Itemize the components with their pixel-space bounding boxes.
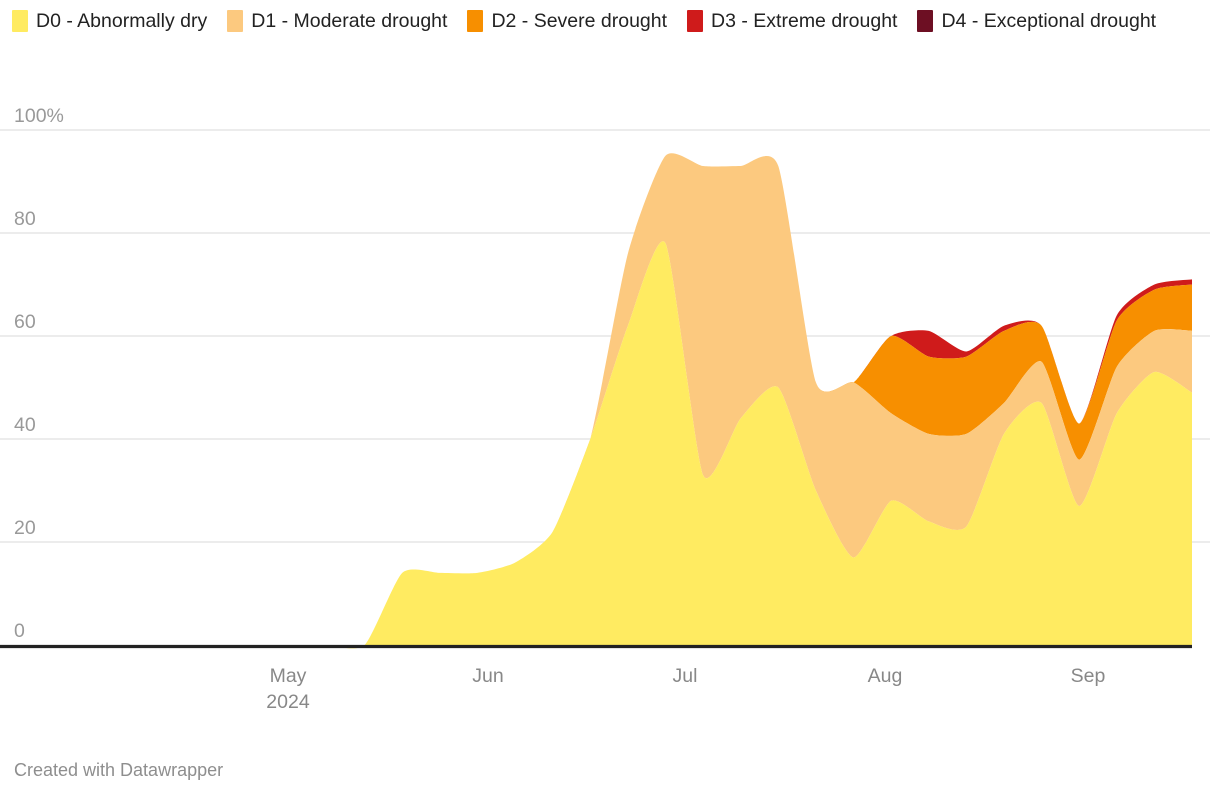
x-tick-month-jun: Jun — [472, 663, 503, 689]
legend-swatch-d2 — [467, 10, 483, 32]
y-tick-label-0: 0 — [14, 621, 25, 641]
y-tick-label-100: 100% — [14, 106, 64, 126]
x-tick-year-label: 2024 — [266, 689, 309, 715]
chart-legend: D0 - Abnormally dry D1 - Moderate drough… — [12, 8, 1208, 34]
y-tick-label-20: 20 — [14, 518, 36, 538]
legend-swatch-d1 — [227, 10, 243, 32]
x-tick-month-may: May — [266, 663, 309, 689]
legend-item-d2[interactable]: D2 - Severe drought — [467, 8, 667, 34]
x-tick-label-may: May2024 — [266, 663, 309, 715]
datawrapper-credit[interactable]: Created with Datawrapper — [14, 760, 223, 781]
x-tick-month-jul: Jul — [673, 663, 698, 689]
stacked-area-chart: 100%806040200 May2024JunJulAugSep — [0, 96, 1220, 656]
legend-label-d4: D4 - Exceptional drought — [941, 8, 1156, 34]
x-tick-month-aug: Aug — [868, 663, 903, 689]
legend-item-d3[interactable]: D3 - Extreme drought — [687, 8, 897, 34]
area-series-group — [327, 153, 1192, 648]
y-tick-label-80: 80 — [14, 209, 36, 229]
x-tick-label-jul: Jul — [673, 663, 698, 689]
legend-label-d0: D0 - Abnormally dry — [36, 8, 207, 34]
legend-item-d0[interactable]: D0 - Abnormally dry — [12, 8, 207, 34]
legend-label-d1: D1 - Moderate drought — [251, 8, 447, 34]
x-tick-label-jun: Jun — [472, 663, 503, 689]
x-tick-label-aug: Aug — [868, 663, 903, 689]
legend-swatch-d4 — [917, 10, 933, 32]
y-tick-label-60: 60 — [14, 312, 36, 332]
chart-plot-area — [0, 96, 1220, 656]
legend-label-d3: D3 - Extreme drought — [711, 8, 897, 34]
legend-swatch-d3 — [687, 10, 703, 32]
legend-item-d1[interactable]: D1 - Moderate drought — [227, 8, 447, 34]
legend-item-d4[interactable]: D4 - Exceptional drought — [917, 8, 1156, 34]
legend-label-d2: D2 - Severe drought — [491, 8, 667, 34]
legend-swatch-d0 — [12, 10, 28, 32]
x-tick-label-sep: Sep — [1071, 663, 1106, 689]
x-tick-month-sep: Sep — [1071, 663, 1106, 689]
y-tick-label-40: 40 — [14, 415, 36, 435]
